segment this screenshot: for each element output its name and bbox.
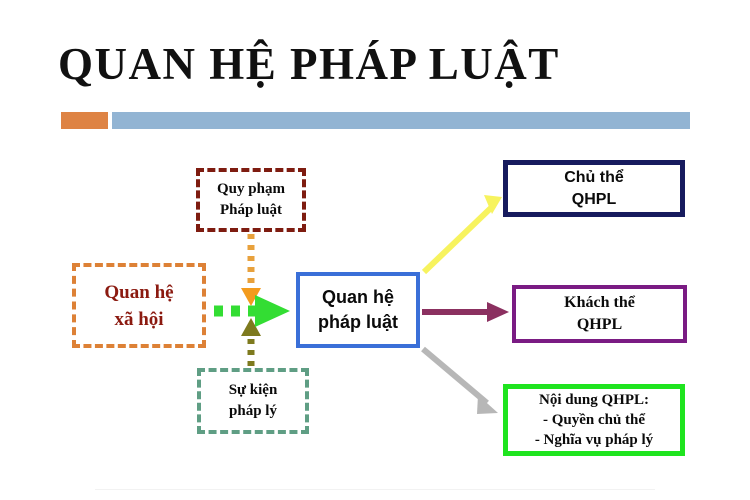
connector-center-to-chu-the [424,195,502,272]
node-chu-the-qhpl[interactable]: Chủ thể QHPL [503,160,685,217]
connector-quan-he-xa-hoi-to-center [214,295,290,327]
node-label-line2: Pháp luật [220,200,282,221]
node-su-kien-phap-ly[interactable]: Sự kiện pháp lý [197,368,309,434]
connector-center-to-noi-dung [423,349,498,414]
slide-canvas: QUAN HỆ PHÁP LUẬT [0,0,750,500]
title-rule-orange-block [61,112,108,129]
node-label-line2: QHPL [577,314,622,336]
node-label-line2: xã hội [114,306,163,333]
node-label-line1: Chủ thể [564,167,624,189]
node-label-line1: Quy phạm [217,179,285,200]
node-label-line2: pháp lý [229,401,277,422]
node-khach-the-qhpl[interactable]: Khách thể QHPL [512,285,687,343]
node-label-line1: Khách thể [564,292,635,314]
node-label-line3: - Nghĩa vụ pháp lý [535,430,653,450]
node-label-line2: pháp luật [318,310,398,335]
node-label-line1: Nội dung QHPL: [539,390,649,410]
node-quan-he-phap-luat[interactable]: Quan hệ pháp luật [296,272,420,348]
title-rule-blue-bar [112,112,690,129]
node-label-line1: Quan hệ [104,279,173,306]
node-quan-he-xa-hoi[interactable]: Quan hệ xã hội [72,263,206,348]
node-label-line2: - Quyền chủ thể [543,410,645,430]
node-label-line1: Sự kiện [229,380,278,401]
page-title: QUAN HỆ PHÁP LUẬT [58,36,698,92]
connector-su-kien-to-center [241,318,261,366]
node-quy-pham-phap-luat[interactable]: Quy phạm Pháp luật [196,168,306,232]
connector-quy-pham-to-center [241,234,261,306]
node-label-line1: Quan hệ [322,285,394,310]
node-label-line2: QHPL [572,189,616,211]
footer-divider [95,489,655,490]
node-noi-dung-qhpl[interactable]: Nội dung QHPL: - Quyền chủ thể - Nghĩa v… [503,384,685,456]
connector-center-to-khach-the [422,302,509,322]
